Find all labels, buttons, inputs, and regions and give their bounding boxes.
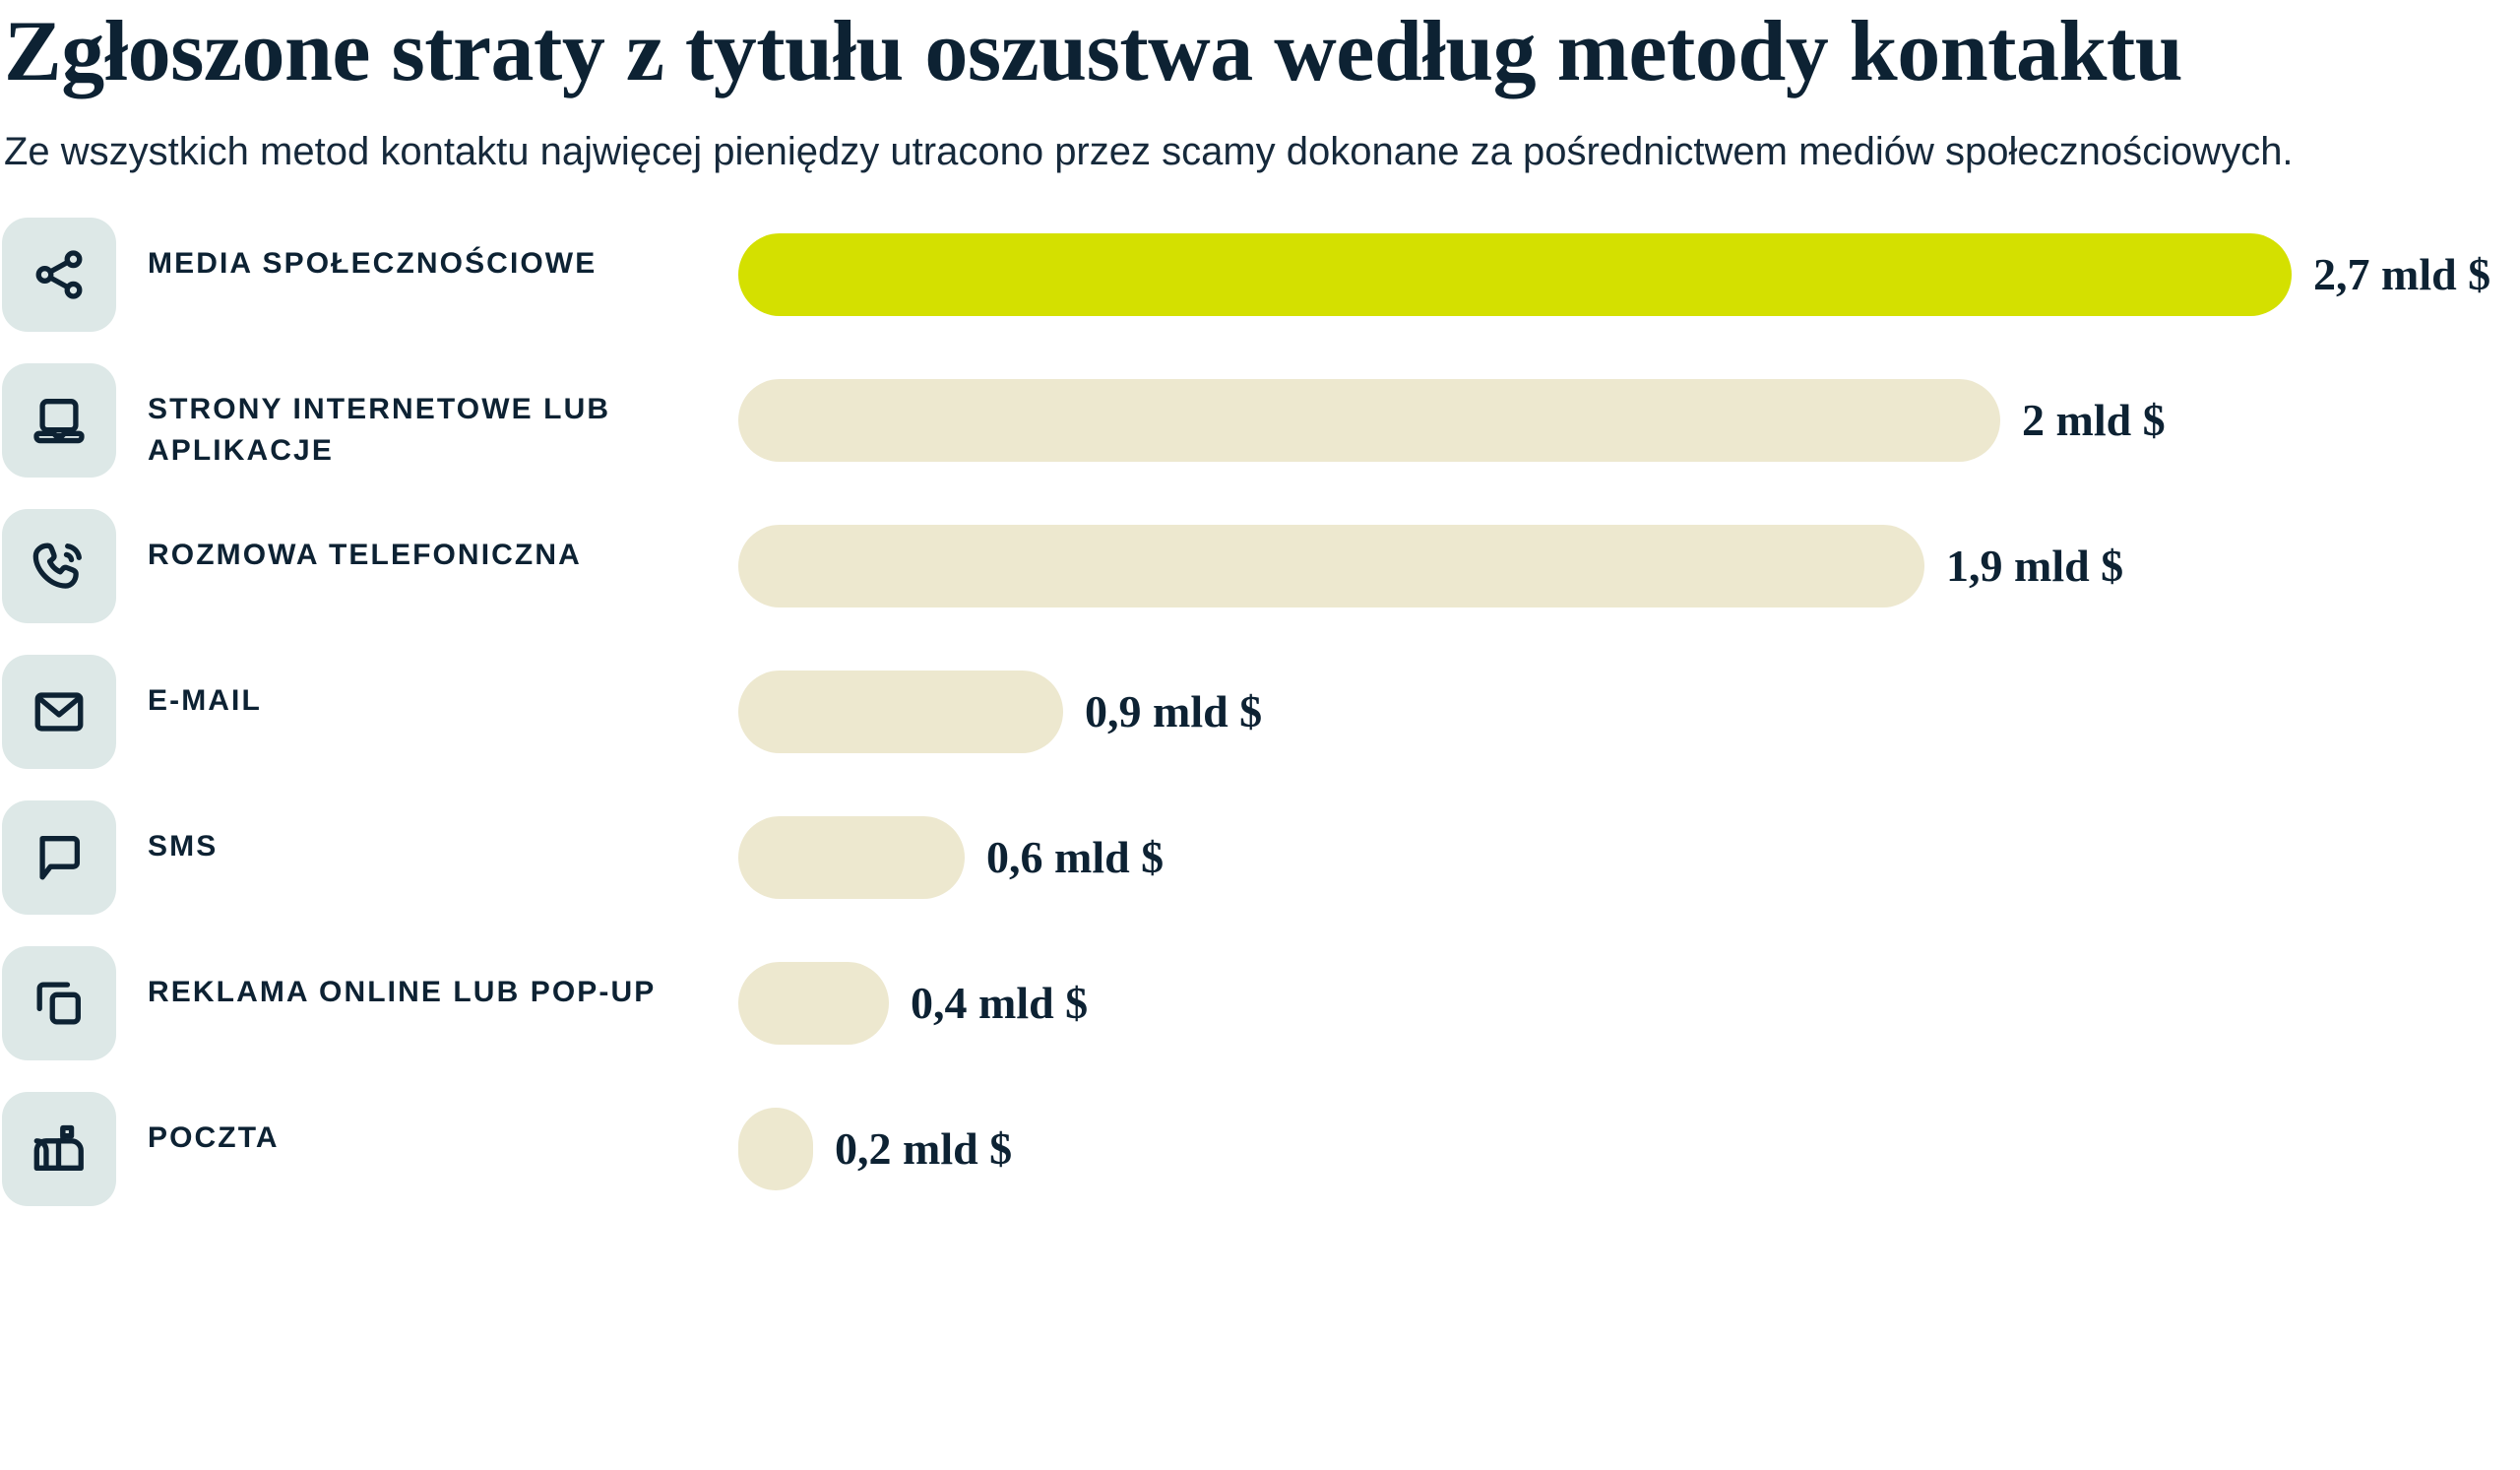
chart-page: Zgłoszone straty z tytułu oszustwa wedłu… <box>0 0 2520 1470</box>
chart-row: POCZTA 0,2 mld $ <box>0 1092 2520 1238</box>
category-label: POCZTA <box>148 1092 738 1160</box>
bar-area: 0,6 mld $ <box>738 800 2520 915</box>
copy-windows-icon <box>31 975 88 1032</box>
bar-area: 2,7 mld $ <box>738 218 2520 332</box>
icon-tile <box>2 363 116 478</box>
bar-area: 1,9 mld $ <box>738 509 2520 623</box>
category-label: MEDIA SPOŁECZNOŚCIOWE <box>148 218 738 286</box>
bar <box>738 1108 813 1190</box>
bar-value-label: 0,9 mld $ <box>1085 689 1262 735</box>
chart-header: Zgłoszone straty z tytułu oszustwa wedłu… <box>0 0 2520 180</box>
chart-row: ROZMOWA TELEFONICZNA 1,9 mld $ <box>0 509 2520 655</box>
chart-subtitle: Ze wszystkich metod kontaktu najwięcej p… <box>4 123 2445 180</box>
chart-row: REKLAMA ONLINE LUB POP-UP 0,4 mld $ <box>0 946 2520 1092</box>
category-label: E-MAIL <box>148 655 738 723</box>
category-label: SMS <box>148 800 738 868</box>
mailbox-icon <box>31 1120 88 1178</box>
chart-row: MEDIA SPOŁECZNOŚCIOWE 2,7 mld $ <box>0 218 2520 363</box>
chart-row: E-MAIL 0,9 mld $ <box>0 655 2520 800</box>
page-title: Zgłoszone straty z tytułu oszustwa wedłu… <box>4 0 2386 101</box>
bar-value-label: 2,7 mld $ <box>2313 252 2490 297</box>
icon-tile <box>2 509 116 623</box>
bar-value-label: 0,2 mld $ <box>835 1126 1012 1172</box>
bar-area: 0,4 mld $ <box>738 946 2520 1060</box>
category-label: STRONY INTERNETOWE LUB APLIKACJE <box>148 363 738 473</box>
bar-chart: MEDIA SPOŁECZNOŚCIOWE 2,7 mld $ STRONY I… <box>0 218 2520 1238</box>
category-label: ROZMOWA TELEFONICZNA <box>148 509 738 577</box>
share-icon <box>31 246 88 303</box>
bar <box>738 525 1924 607</box>
chat-bubble-icon <box>31 829 88 886</box>
bar <box>738 671 1063 753</box>
icon-tile <box>2 218 116 332</box>
bar <box>738 816 965 899</box>
bar <box>738 962 889 1045</box>
bar-area: 0,2 mld $ <box>738 1092 2520 1206</box>
bar-value-label: 0,4 mld $ <box>911 981 1088 1026</box>
bar-area: 2 mld $ <box>738 363 2520 478</box>
icon-tile <box>2 946 116 1060</box>
category-label: REKLAMA ONLINE LUB POP-UP <box>148 946 738 1014</box>
laptop-icon <box>31 392 88 449</box>
envelope-icon <box>31 683 88 740</box>
bar <box>738 233 2292 316</box>
chart-row: STRONY INTERNETOWE LUB APLIKACJE 2 mld $ <box>0 363 2520 509</box>
bar-area: 0,9 mld $ <box>738 655 2520 769</box>
chart-row: SMS 0,6 mld $ <box>0 800 2520 946</box>
bar-value-label: 1,9 mld $ <box>1946 543 2123 589</box>
icon-tile <box>2 1092 116 1206</box>
icon-tile <box>2 655 116 769</box>
bar-value-label: 0,6 mld $ <box>986 835 1164 880</box>
phone-call-icon <box>31 538 88 595</box>
bar-value-label: 2 mld $ <box>2022 398 2166 443</box>
bar <box>738 379 2000 462</box>
icon-tile <box>2 800 116 915</box>
